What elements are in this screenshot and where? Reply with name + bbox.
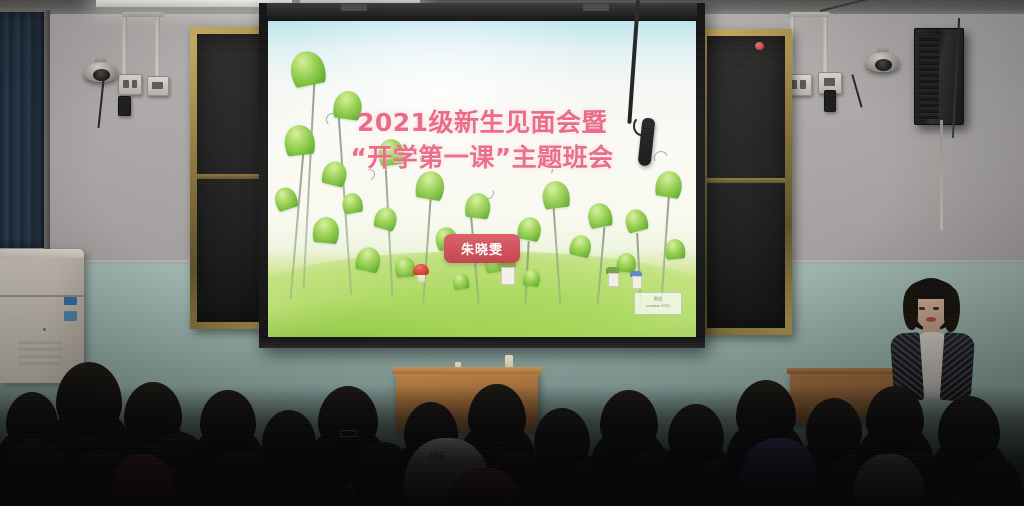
- blackboard-middle-rail: [707, 178, 785, 183]
- screen-bracket-right: [583, 4, 609, 11]
- cottage-house-icon-blue: [630, 271, 642, 287]
- cottage-house-icon-small: [606, 267, 619, 285]
- ac-brand-text: . . . . .: [8, 315, 30, 321]
- presenter-hair-left: [903, 288, 918, 330]
- camera-power-adapter-left: [118, 96, 131, 116]
- presenter-lips: [926, 317, 936, 322]
- wall-socket-left-a[interactable]: [118, 74, 142, 95]
- presenter-eye-left: [919, 307, 925, 310]
- audience-shadow-overlay: [0, 386, 1024, 506]
- wall-socket-left-b[interactable]: [147, 76, 169, 96]
- ac-label-lower: [64, 311, 77, 321]
- screen-bracket-left: [341, 4, 367, 11]
- conduit-pipe-right-horizontal: [790, 12, 830, 17]
- watermark-line-2: creative 2021: [637, 302, 679, 309]
- socket-slot: [824, 78, 835, 86]
- wall-hook-rod: [940, 120, 943, 230]
- blackboard-magnet-sticker: [755, 42, 764, 50]
- socket-slot: [800, 80, 806, 89]
- ac-label-upper: [64, 297, 77, 305]
- window-curtain-left: [0, 12, 46, 248]
- socket-slot: [123, 80, 129, 88]
- chalk-residue: · · ·: [209, 104, 225, 111]
- camera-power-adapter-right: [824, 90, 836, 112]
- window-frame-left: [44, 10, 50, 250]
- ac-indicator-dot: [43, 328, 46, 331]
- presenter-eye-right: [933, 307, 939, 310]
- classroom-photo-scene: · · ·: [0, 0, 1024, 506]
- camera-lens: [875, 59, 892, 71]
- ac-top-lid: [0, 249, 84, 258]
- stock-photo-watermark: 图虫 creative 2021: [634, 292, 682, 315]
- house-body: [632, 276, 642, 289]
- socket-slot: [132, 80, 137, 88]
- presenter-hair-right: [944, 288, 960, 332]
- dome-security-camera-right: [866, 46, 900, 72]
- speaker-grille: [919, 35, 939, 119]
- screen-frame-left: [259, 3, 267, 348]
- house-body: [501, 267, 515, 285]
- watermark-line-1: 图虫: [637, 295, 679, 302]
- dome-security-camera-left: [84, 56, 118, 82]
- conduit-pipe-right-b: [823, 14, 828, 74]
- conduit-pipe-left-horizontal: [122, 12, 164, 17]
- blackboard-right-panel: [700, 29, 792, 335]
- screen-frame-right: [697, 3, 705, 348]
- presenter-name-badge: 朱晓雯: [444, 234, 520, 263]
- mushroom-cap-icon: [413, 264, 429, 275]
- projector-screen: 2021级新生见面会暨 “开学第一课”主题班会 朱晓雯 图虫 creative …: [259, 3, 705, 348]
- socket-slot: [152, 82, 163, 89]
- house-body: [608, 273, 619, 287]
- student-audience: HE: [0, 346, 1024, 506]
